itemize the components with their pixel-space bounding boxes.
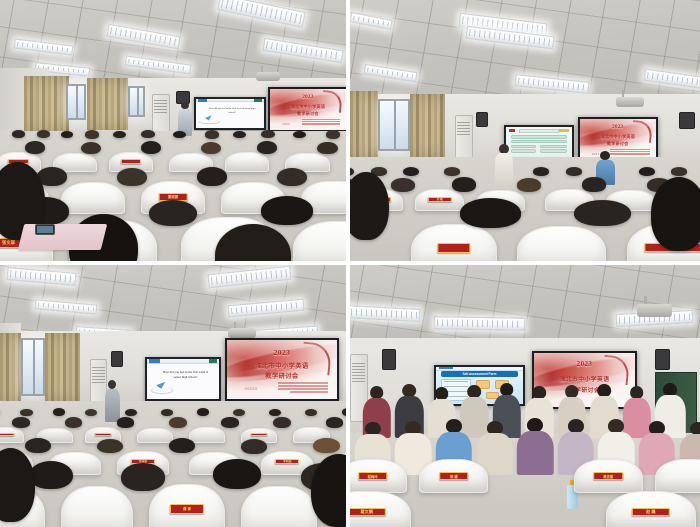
- slide-question-text: How did you feel in the first week at se…: [160, 370, 211, 379]
- photo-top-left[interactable]: How did you feel in the first week at se…: [0, 0, 349, 263]
- attendee-head: [257, 141, 277, 154]
- window-curtain: [0, 333, 21, 406]
- audience-row-mid: 曾丽丽 刘 敏: [350, 177, 700, 211]
- window-curtain: [87, 78, 129, 130]
- attendee-head: [342, 408, 346, 416]
- slide-badge-left: [198, 99, 208, 101]
- scene-audience-wide: How did you feel in the first week at se…: [0, 0, 346, 261]
- attendee-head: [61, 131, 74, 139]
- ceiling-projector: [637, 304, 672, 317]
- attendee-head: [293, 131, 306, 139]
- ceiling-projector: [256, 72, 280, 81]
- window: [66, 84, 87, 121]
- scene-presenter: 2023 淮北市中小学英语 教学研讨会 2023.9: [350, 0, 700, 261]
- window: [128, 86, 145, 117]
- attendee-head-foreground: [213, 459, 261, 489]
- slide-badge-left: [149, 359, 159, 362]
- attendee-head: [85, 409, 97, 416]
- attendee-head: [533, 167, 549, 176]
- attendee-head: [326, 417, 344, 427]
- slide-badge-right: [254, 99, 262, 101]
- conference-subtitle: [278, 380, 329, 394]
- attendee-head: [149, 200, 197, 226]
- attendee-head: [65, 417, 83, 428]
- seat-name-tag: 赵 磊: [632, 508, 670, 516]
- attendee-head: [169, 417, 187, 428]
- member-head: [532, 386, 546, 399]
- slide-text-row: [511, 135, 566, 139]
- attendee-head: [391, 178, 415, 192]
- wall-speaker: [382, 349, 396, 370]
- slide-text-row: [540, 145, 566, 149]
- conference-title-line1: 淮北市中小学英语: [227, 361, 337, 370]
- conference-year: 2023: [227, 348, 337, 357]
- ceiling-projector: [616, 97, 644, 107]
- attendee-head: [173, 131, 186, 139]
- attendee-head-foreground: [651, 177, 700, 250]
- attendee-head: [269, 409, 281, 417]
- attendee-head: [671, 167, 687, 176]
- attendee-head: [169, 438, 195, 453]
- attendee-head-foreground: [574, 200, 631, 226]
- attendee-head-foreground: [460, 198, 521, 228]
- ceiling-projector: [228, 328, 256, 338]
- window: [21, 338, 45, 396]
- attendee-head-foreground: [121, 463, 165, 491]
- slide-text-row: [511, 149, 536, 153]
- seat-chair: 葛文娟: [350, 491, 411, 527]
- attendee-head: [81, 142, 101, 155]
- audience-row-front: 马文丽 谭 青 李娜娜: [0, 469, 346, 527]
- window-curtain: [410, 94, 445, 157]
- member-head: [370, 386, 384, 399]
- attendee-head: [233, 409, 245, 416]
- attendee-head: [12, 417, 30, 427]
- slide-screen-left: How did you feel in the first week at se…: [145, 357, 221, 402]
- seat-chair: [293, 221, 346, 261]
- seat-name-tag: [437, 243, 470, 253]
- smartphone: [35, 224, 56, 234]
- conference-title-screen: 2023 淮北市中小学英语 教学研讨会 2023.9.5: [225, 338, 339, 401]
- attendee-head: [600, 151, 610, 160]
- foreground-seat-row-2: 葛文娟 赵 磊: [350, 485, 700, 527]
- ceiling-lamp: [434, 317, 525, 332]
- seat-name-tag: [0, 433, 15, 436]
- attendee-head: [20, 409, 32, 416]
- attendee-head: [201, 142, 221, 155]
- attendee-head: [566, 167, 582, 175]
- wall-speaker: [111, 351, 123, 367]
- photo-bottom-right[interactable]: Self-assessment Form 2023 淮北市中小学英语 教学研讨会: [349, 263, 700, 527]
- attendee-head: [117, 168, 147, 186]
- wall-speaker: [655, 349, 671, 370]
- slide-badge-right: [209, 359, 218, 362]
- seat-chair: 谭 青: [149, 484, 225, 527]
- wall-speaker: [476, 112, 488, 126]
- slide-text-row: [540, 149, 566, 153]
- slide-text-row: [511, 140, 566, 144]
- member-head: [405, 421, 421, 435]
- attendee-head: [582, 177, 606, 191]
- seat-name-tag: 程梅玲: [358, 472, 387, 479]
- conference-title-line1: 淮北市中小学英语: [580, 134, 657, 140]
- seat-name-tag: [94, 433, 111, 436]
- seat-chair: [61, 486, 133, 527]
- seat-chair: [411, 224, 496, 261]
- attendee-head: [517, 178, 541, 192]
- attendee-head: [12, 130, 25, 138]
- photo-collage: How did you feel in the first week at se…: [0, 0, 700, 527]
- attendee-head-foreground: [29, 461, 73, 490]
- attendee-head: [452, 177, 476, 191]
- slide-title-bar: [519, 129, 559, 133]
- attendee-head: [97, 439, 123, 454]
- attendee-head: [350, 167, 354, 176]
- attendee-head: [233, 131, 246, 139]
- slide-question-text: How did you feel in the first week at se…: [208, 107, 256, 114]
- conference-title-line1: 淮北市中小学英语: [270, 104, 346, 110]
- seat-name-tag: 谭 青: [170, 504, 204, 514]
- slide-toolbar: [436, 367, 523, 371]
- attendee-head: [197, 167, 227, 186]
- attendee-head: [261, 130, 275, 138]
- conference-year: 2023: [534, 360, 635, 368]
- window-curtain: [45, 333, 80, 401]
- scene-group-photo: Self-assessment Form 2023 淮北市中小学英语 教学研讨会: [350, 265, 700, 527]
- attendee-head: [277, 168, 307, 186]
- member-head: [649, 421, 665, 435]
- attendee-head: [305, 409, 317, 416]
- photo-top-right[interactable]: 2023 淮北市中小学英语 教学研讨会 2023.9: [349, 0, 700, 263]
- attendee-head: [141, 130, 155, 138]
- writing-desk: [17, 224, 107, 250]
- member-head: [630, 386, 644, 399]
- attendee-head: [141, 141, 161, 154]
- member-head: [487, 421, 503, 435]
- conference-year: 2023: [580, 125, 657, 130]
- slide-screen-task: [504, 125, 574, 159]
- wall-speaker: [679, 112, 695, 129]
- attendee-head: [326, 130, 340, 139]
- scene-hall-rear: How did you feel in the first week at se…: [0, 265, 346, 527]
- attendee-head: [85, 130, 99, 139]
- seat-name-tag: 黄志刚: [593, 472, 622, 479]
- attendee-head: [444, 167, 460, 176]
- photo-bottom-left[interactable]: How did you feel in the first week at se…: [0, 263, 349, 527]
- attendee-head: [125, 409, 137, 417]
- attendee-head: [197, 408, 209, 416]
- conference-title-line2: 教学研讨会: [270, 111, 346, 117]
- paper-plane-icon: [153, 380, 169, 391]
- attendee-head: [113, 131, 126, 139]
- attendee-head: [639, 167, 655, 176]
- conference-subtitle: [610, 148, 650, 156]
- conference-title-line2: 教学研讨会: [227, 371, 337, 380]
- paper-plane-icon: [201, 114, 216, 122]
- seat-name-tag: [251, 433, 268, 436]
- seat-chair: [241, 486, 317, 527]
- attendee-head: [25, 141, 45, 154]
- window: [378, 99, 410, 151]
- seat-name-tag: 葛文娟: [350, 508, 386, 516]
- audience-row-front: 周银萍: [350, 209, 700, 261]
- attendee-head: [273, 417, 291, 428]
- attendee-head: [261, 196, 313, 225]
- slide-badge: [559, 129, 568, 132]
- presenter-head: [499, 144, 509, 154]
- conference-year: 2023: [270, 95, 346, 100]
- slide-text-row: [511, 145, 536, 149]
- attendee-head: [241, 439, 267, 454]
- seat-chair: [517, 226, 606, 261]
- conference-date: 2023.9.5: [245, 387, 257, 391]
- attendee-head: [37, 130, 51, 138]
- conference-title-line2: 教学研讨会: [580, 141, 657, 147]
- seat-name-tag: 李晓丽: [275, 459, 299, 464]
- seat-name-tag: 陈 娜: [439, 472, 468, 479]
- attendee-head: [221, 417, 239, 427]
- slide-logo: [509, 129, 516, 133]
- attendee-head: [161, 409, 173, 416]
- seat-name-tag: 刘 敏: [428, 197, 452, 202]
- window-curtain: [350, 91, 378, 159]
- attendee-head: [117, 417, 135, 427]
- attendee-head-foreground: [350, 172, 389, 240]
- seat-name-tag: [121, 159, 141, 164]
- member-head: [365, 422, 381, 436]
- attendee-head: [313, 438, 339, 453]
- member-head: [690, 422, 700, 436]
- attendee-head: [25, 438, 51, 453]
- attendee-head: [317, 142, 337, 155]
- seat-chair: 赵 磊: [606, 491, 695, 527]
- attendee-head: [53, 408, 65, 416]
- attendee-head: [403, 167, 419, 176]
- attendee-head: [205, 130, 219, 139]
- conference-title-screen: 2023 淮北市中小学英语 教学研讨会 2023.9: [578, 117, 659, 161]
- slide-heading: Self-assessment Form: [441, 371, 518, 377]
